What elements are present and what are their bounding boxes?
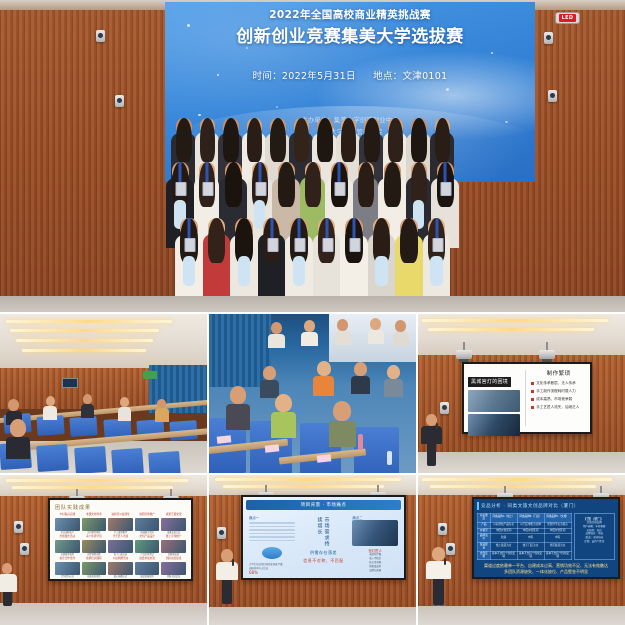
slide-grid-item: 进社区公益课堂手工课堂教学	[108, 514, 133, 534]
slide-title: 竞品分析 · 同类文旅文创品牌对比（厦门）	[477, 502, 615, 510]
grid-item-caption: 合作签约仪式	[55, 576, 80, 578]
grid-item-caption: 新媒体运营	[161, 554, 186, 556]
grid-item-photo	[55, 518, 80, 531]
exit-sign-green	[143, 371, 157, 379]
slide-divider	[525, 370, 526, 426]
audience-member	[120, 397, 129, 421]
column-stat: 68%	[249, 570, 295, 575]
judge	[275, 394, 292, 439]
projection-screen: 竞品分析 · 同类文旅文创品牌对比（厦门） 对标维度同类品牌A（线上）同类品牌B…	[472, 497, 620, 579]
grid-item-photo	[55, 540, 80, 553]
grid-item-caption: 研学营地实践	[82, 554, 107, 556]
panel-lecture-hall-audience	[0, 314, 207, 473]
presenter-speaker	[432, 547, 445, 605]
grid-item-photo	[108, 562, 133, 575]
table-cell: 较弱	[490, 534, 517, 543]
grid-item-heading: 成果汇报交流	[161, 514, 186, 517]
wall-monitor	[62, 378, 78, 388]
table-row-label: 品牌溢价	[478, 534, 491, 543]
slide-grid-item: 团队总结复盘团队总结会议	[161, 558, 186, 578]
table-row-label: 文创定制	[478, 551, 491, 560]
table-cell: 线下门店为主	[517, 543, 544, 552]
column-item: 品牌认知弱	[352, 569, 398, 573]
table-row-label: 渠道建设	[478, 543, 491, 552]
audience-member	[157, 399, 166, 423]
center-red-text: 信息不对称、不匹配	[303, 558, 344, 564]
grid-item-heading: 校园宣传推广	[135, 514, 160, 517]
slide-photo-2	[468, 414, 520, 436]
center-line: 供需存在落差	[310, 550, 337, 556]
crowd-row-front	[0, 218, 625, 305]
table-header-row: 对标维度同类品牌A（线上）同类品牌B（门店）同类品牌C（文旅）	[478, 514, 572, 523]
slide-bullet-list: 文化传承断层，无人传承 手工制作流程耗时费人力 成本高昂，市场竞争弱 手工艺匠人…	[531, 381, 586, 410]
slide-right-heading: 制作繁琐	[531, 369, 586, 377]
slide-bullet: 文化传承断层，无人传承	[531, 381, 586, 386]
slide-bullet: 成本高昂，市场竞争弱	[531, 397, 586, 402]
slide-photo-1	[468, 390, 520, 412]
slide-photo-grid: 乡村振兴实践走访调研农户非遗文化传承宫灯制作体验进社区公益课堂手工课堂教学校园宣…	[55, 514, 186, 578]
hall-floor	[418, 452, 625, 473]
wall-camera-right-icon	[544, 32, 553, 44]
grid-item-caption: 产品打样测试	[135, 554, 160, 556]
judge	[230, 386, 246, 430]
slide-grid-item: 手艺匠人访谈匠人口述记录	[108, 536, 133, 556]
panel-slide-photo-grid: 团队实践成果 乡村振兴实践走访调研农户非遗文化传承宫灯制作体验进社区公益课堂手工…	[0, 475, 207, 625]
water-bottle	[358, 434, 363, 450]
table-cell: 基本不支持个性化定制	[517, 551, 544, 560]
grid-item-photo	[161, 518, 186, 531]
slide-content: 团队实践成果 乡村振兴实践走访调研农户非遗文化传承宫灯制作体验进社区公益课堂手工…	[50, 500, 191, 579]
slide-grid-item: 展会参展交流展会参展现场	[135, 558, 160, 578]
table-cell: 基本不支持个性化定制	[544, 551, 571, 560]
grid-item-caption: 团队总结会议	[161, 576, 186, 578]
wall-speaker-icon	[438, 523, 447, 535]
center-vertical-text: 市场需求持续增长	[317, 517, 331, 548]
grid-item-heading: 线上宣传推广	[161, 536, 186, 539]
grid-item-heading: 团队总结复盘	[161, 558, 186, 561]
photo-collage: LED 2022年全国高校商业精英挑战赛	[0, 0, 625, 625]
grid-item-photo	[108, 518, 133, 531]
hero-group-photo: LED 2022年全国高校商业精英挑战赛	[0, 0, 625, 312]
highlight-brand-box: 灯笼（厦门） 文旅文创品牌 用户画像：年轻客群价格带：亲民品牌溢价：中高渠道：全…	[574, 513, 615, 560]
slide-photo	[352, 520, 398, 546]
table-row: 文创定制基本不支持个性化定制基本不支持个性化定制基本不支持个性化定制	[478, 551, 572, 560]
panel-slide-gongdeng: 黑城宫灯的困境 制作繁琐 文化传承断层，无人传承 手工制作流程耗时费人力 成本高…	[418, 314, 625, 473]
grid-item-photo	[82, 518, 107, 531]
front-judges-row	[209, 381, 416, 473]
grid-item-caption: 志愿服务现场	[55, 554, 80, 556]
table-header-cell: 对标维度	[478, 514, 491, 523]
audience-member	[46, 396, 55, 420]
panel-slide-competitor-table: 竞品分析 · 同类文旅文创品牌对比（厦门） 对标维度同类品牌A（线上）同类品牌B…	[418, 475, 625, 625]
grid-item-photo	[82, 540, 107, 553]
judge	[333, 401, 351, 447]
grid-item-caption: 宫灯制作体验	[82, 532, 107, 534]
slide-pie-chart	[262, 547, 282, 559]
grid-item-heading: 公益捐赠活动	[108, 558, 133, 561]
banner-place: 地点：文津0101	[373, 71, 447, 82]
grid-item-heading: 校企合作签约	[55, 558, 80, 561]
grid-item-heading: 青少年研学营	[82, 536, 107, 539]
table-cell: 中等	[517, 534, 544, 543]
table-header-cell: 同类品牌C（文旅）	[544, 514, 571, 523]
slide-footer: 渠道过度依赖单一平台、自建成本过高、营销功效不足、无法有效触达 多团队资源缺失、…	[477, 563, 615, 575]
grid-item-photo	[161, 540, 186, 553]
presenter-speaker	[426, 414, 437, 466]
wall-speaker-icon	[14, 521, 23, 533]
grid-item-photo	[161, 562, 186, 575]
table-cell: 线上渠道为主	[490, 543, 517, 552]
grid-item-heading: 志愿服务活动	[55, 536, 80, 539]
slide-bullet: 手工制作流程耗时费人力	[531, 389, 586, 394]
slide-grid-item: 非遗文化传承宫灯制作体验	[82, 514, 107, 534]
column-item-list: 老龄化严重收入不稳定技艺传承难销售渠道窄品牌认知弱	[352, 553, 398, 573]
grid-item-caption: 校园展示活动	[135, 532, 160, 534]
table-header-cell: 同类品牌B（门店）	[517, 514, 544, 523]
banner-line-1: 2022年全国高校商业精英挑战赛	[165, 9, 535, 22]
projector-left-icon	[456, 350, 472, 359]
projection-screen: 黑城宫灯的困境 制作繁琐 文化传承断层，无人传承 手工制作流程耗时费人力 成本高…	[462, 362, 592, 434]
table-cell: 中等	[544, 534, 571, 543]
banner-text-block: 2022年全国高校商业精英挑战赛 创新创业竞赛集美大学选拔赛 时间：2022年5…	[165, 9, 535, 82]
slide-content: 项目背景 · 市场痛点 痛点一 大学生创业项目同质化现象严重 调研样本中占比达 …	[243, 497, 404, 578]
presenter-speaker	[2, 563, 12, 606]
collage-row-3: 团队实践成果 乡村振兴实践走访调研农户非遗文化传承宫灯制作体验进社区公益课堂手工…	[0, 475, 625, 625]
slide-title: 项目背景 · 市场痛点	[246, 500, 401, 510]
wall-camera-icon	[446, 543, 455, 555]
grid-item-caption: 成果交流大会	[161, 532, 186, 534]
footer-line-2: 多团队资源缺失、一体化缺位、产品壁垒不明显	[477, 569, 615, 575]
slide-column-left: 痛点一 大学生创业项目同质化现象严重 调研样本中占比达 68%	[246, 513, 298, 566]
brand-item-list: 用户画像：年轻客群价格带：亲民品牌溢价：中高渠道：全域布局定制：支持个性化	[577, 525, 612, 544]
slide-grid-item: 志愿服务活动志愿服务现场	[55, 536, 80, 556]
grid-item-photo	[135, 562, 160, 575]
slide-content: 竞品分析 · 同类文旅文创品牌对比（厦门） 对标维度同类品牌A（线上）同类品牌B…	[474, 499, 618, 577]
slide-content: 黑城宫灯的困境 制作繁琐 文化传承断层，无人传承 手工制作流程耗时费人力 成本高…	[464, 364, 590, 432]
grid-item-photo	[108, 540, 133, 553]
slide-grid-item: 线上宣传推广新媒体运营	[161, 536, 186, 556]
water-bottle	[387, 451, 392, 465]
slide-column-right: 痛点二 宫灯匠人 老龄化严重收入不稳定技艺传承难销售渠道窄品牌认知弱	[349, 513, 401, 566]
stage-floor	[0, 296, 625, 312]
grid-item-heading: 乡村振兴实践	[55, 514, 80, 517]
grid-item-heading: 技能培训课程	[82, 558, 107, 561]
grid-item-caption: 匠人口述记录	[108, 554, 133, 556]
table-cell: 基本不支持个性化定制	[490, 551, 517, 560]
wall-camera-icon	[20, 543, 29, 555]
slide-grid-item: 校企合作签约合作签约仪式	[55, 558, 80, 578]
competitor-table: 对标维度同类品牌A（线上）同类品牌B（门店）同类品牌C（文旅）产品以标准化产品为…	[477, 513, 572, 560]
grid-item-heading: 展会参展交流	[135, 558, 160, 561]
hall-floor	[418, 606, 625, 625]
presenter-speaker	[221, 549, 233, 604]
grid-item-photo	[55, 562, 80, 575]
table-header-cell: 同类品牌A（线上）	[490, 514, 517, 523]
grid-item-caption: 展会参展现场	[135, 576, 160, 578]
name-card	[316, 454, 331, 462]
slide-grid-item: 公益捐赠活动爱心捐赠仪式	[108, 558, 133, 578]
audience-seating	[0, 401, 207, 473]
projection-screen: 团队实践成果 乡村振兴实践走访调研农户非遗文化传承宫灯制作体验进社区公益课堂手工…	[48, 498, 193, 581]
slide-grid-item: 成果汇报交流成果交流大会	[161, 514, 186, 534]
projection-screen: 项目背景 · 市场痛点 痛点一 大学生创业项目同质化现象严重 调研样本中占比达 …	[241, 495, 406, 580]
panel-slide-blue: 项目背景 · 市场痛点 痛点一 大学生创业项目同质化现象严重 调研样本中占比达 …	[209, 475, 416, 625]
slide-column-center: 市场需求持续增长 供需存在落差 信息不对称、不匹配	[298, 513, 350, 566]
grid-item-photo	[135, 540, 160, 553]
grid-item-caption: 爱心捐赠仪式	[108, 576, 133, 578]
brand-item: 定制：支持个性化	[577, 540, 612, 544]
grid-item-photo	[82, 562, 107, 575]
grid-item-heading: 进社区公益课堂	[108, 514, 133, 517]
slide-grid-item: 青少年研学营研学营地实践	[82, 536, 107, 556]
slide-title-box: 黑城宫灯的困境	[468, 377, 511, 387]
foreground-attendee	[10, 419, 26, 459]
collage-row-2: 黑城宫灯的困境 制作繁琐 文化传承断层，无人传承 手工制作流程耗时费人力 成本高…	[0, 314, 625, 473]
banner-time: 时间：2022年5月31日	[253, 71, 356, 82]
grid-item-heading: 非遗文化传承	[82, 514, 107, 517]
hall-floor	[0, 603, 207, 625]
grid-item-heading: 手艺匠人访谈	[108, 536, 133, 539]
led-exit-sign: LED	[555, 12, 580, 24]
slide-grid-item: 校园宣传推广校园展示活动	[135, 514, 160, 534]
hall-floor	[209, 607, 416, 625]
table-cell: 景区渠道为主	[544, 543, 571, 552]
grid-item-caption: 手工课堂教学	[108, 532, 133, 534]
banner-meta: 时间：2022年5月31日 地点：文津0101	[165, 68, 535, 82]
grid-item-photo	[135, 518, 160, 531]
audience-member	[83, 394, 92, 418]
grid-item-caption: 技能培训现场	[82, 576, 107, 578]
wall-camera-left-icon	[96, 30, 105, 42]
table-row: 品牌溢价较弱中等中等	[478, 534, 572, 543]
slide-grid-item: 文创产品设计产品打样测试	[135, 536, 160, 556]
slide-bullet: 手工艺匠人流失，后继乏人	[531, 405, 586, 410]
wall-speaker-icon	[440, 402, 449, 414]
banner-line-2: 创新创业竞赛集美大学选拔赛	[165, 27, 535, 48]
slide-title: 团队实践成果	[55, 504, 186, 511]
slide-grid-item: 技能培训课程技能培训现场	[82, 558, 107, 578]
grid-item-caption: 走访调研农户	[55, 532, 80, 534]
column-label: 痛点一	[249, 515, 295, 520]
slide-grid-item: 乡村振兴实践走访调研农户	[55, 514, 80, 534]
panel-judges-seating	[209, 314, 416, 473]
projector-right-icon	[539, 350, 555, 359]
grid-item-heading: 文创产品设计	[135, 536, 160, 539]
group-photo-crowd	[0, 100, 625, 312]
wall-speaker-icon	[217, 527, 226, 539]
table-row: 渠道建设线上渠道为主线下门店为主景区渠道为主	[478, 543, 572, 552]
